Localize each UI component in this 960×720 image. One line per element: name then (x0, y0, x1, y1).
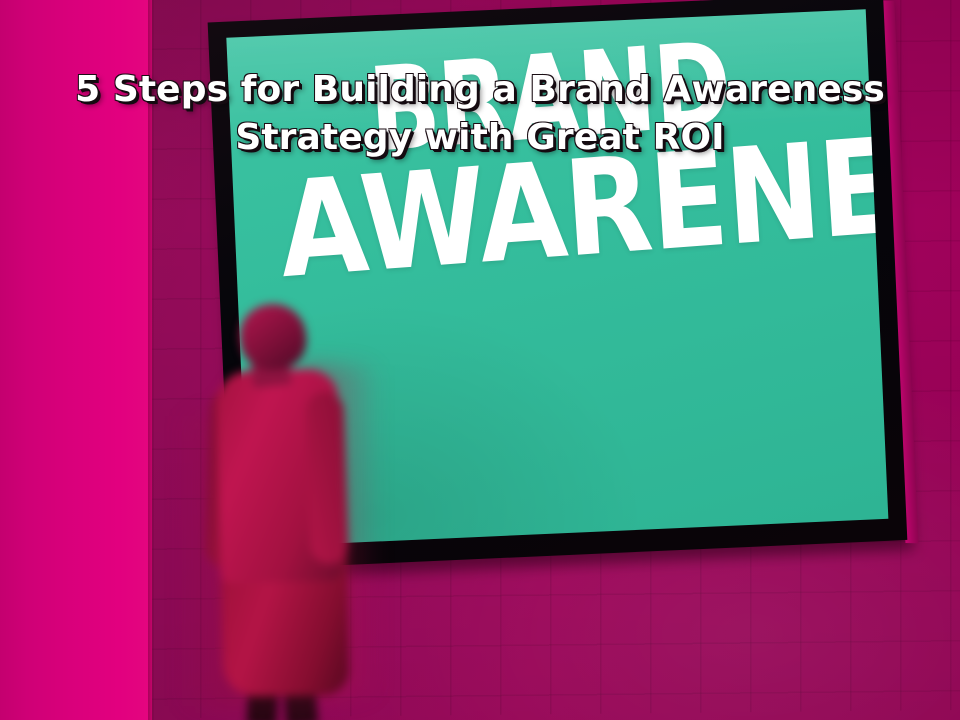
slide-canvas: BRAND AWARENESS 5 Steps for Building a B… (0, 0, 960, 720)
slide-headline: 5 Steps for Building a Brand Awareness S… (0, 66, 960, 162)
pedestrian-figure (196, 296, 364, 720)
headline-line-2: Strategy with Great ROI (0, 114, 960, 162)
pedestrian-arm-right (305, 391, 349, 564)
pedestrian-head (236, 300, 311, 375)
headline-line-1: 5 Steps for Building a Brand Awareness (0, 66, 960, 114)
